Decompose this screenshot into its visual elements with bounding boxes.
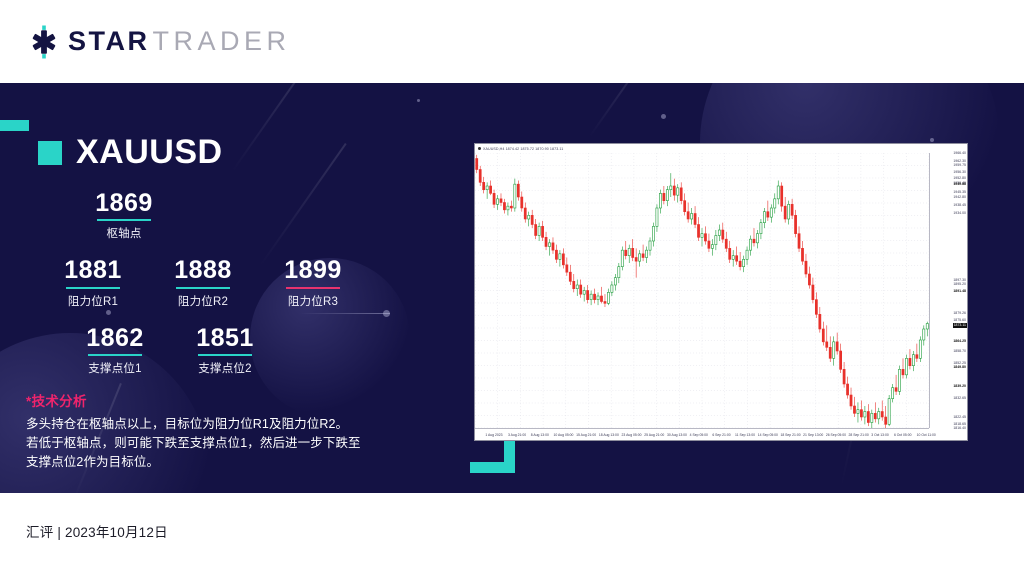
level-value: 1851 bbox=[170, 325, 280, 351]
level-resistance-1: 1881 阻力位R1 bbox=[38, 257, 148, 308]
time-axis-label: 3 Aug 21:00 bbox=[508, 433, 526, 437]
time-axis-label: 10 Oct 11:00 bbox=[917, 433, 936, 437]
last-price-tag: 1873.11 bbox=[953, 323, 967, 328]
time-axis-label: 14 Sep 05:00 bbox=[758, 433, 778, 437]
pivot-row: 1869 枢轴点 bbox=[74, 190, 378, 241]
symbol-label: XAUUSD bbox=[76, 133, 223, 172]
time-axis-label: 4 Sep 05:00 bbox=[690, 433, 708, 437]
brand-logo[interactable]: STAR TRADER bbox=[26, 24, 291, 60]
level-pivot: 1869 枢轴点 bbox=[74, 190, 174, 241]
square-marker-icon bbox=[38, 141, 62, 165]
price-axis-label: 1966.40 bbox=[953, 152, 966, 156]
time-axis-label: 11 Sep 13:00 bbox=[735, 433, 755, 437]
chart-menu-icon[interactable] bbox=[478, 147, 481, 150]
chart-plot-area bbox=[475, 153, 929, 428]
price-axis-label: 1891.48 bbox=[953, 290, 966, 294]
price-axis-label: 1956.30 bbox=[953, 171, 966, 175]
time-axis-label: 30 Aug 13:00 bbox=[667, 433, 687, 437]
page-title: XAUUSD bbox=[38, 133, 223, 172]
chart-price-axis: 1966.401962.301959.751956.301952.801950.… bbox=[929, 153, 967, 428]
time-axis-label: 10 Aug 05:00 bbox=[553, 433, 573, 437]
analysis-heading: *技术分析 bbox=[26, 390, 406, 410]
price-axis-label: 1959.75 bbox=[953, 164, 966, 168]
level-label: 支撑点位2 bbox=[170, 360, 280, 376]
time-axis-label: 3 Oct 13:00 bbox=[871, 433, 889, 437]
level-underline bbox=[97, 219, 151, 221]
six-point-star-icon bbox=[26, 24, 62, 60]
price-axis-label: 1895.20 bbox=[953, 283, 966, 287]
price-chart[interactable]: XAUUSD,H4 1874.42 1875.72 1870.90 1873.1… bbox=[474, 143, 968, 441]
level-value: 1881 bbox=[38, 257, 148, 283]
level-support-2: 1851 支撑点位2 bbox=[170, 325, 280, 376]
chart-time-axis: 1 Aug 20233 Aug 21:008 Aug 13:0010 Aug 0… bbox=[475, 428, 929, 440]
page-footer: 汇评 | 2023年10月12日 bbox=[0, 493, 1024, 576]
time-axis-label: 6 Sep 21:00 bbox=[712, 433, 730, 437]
analysis-heading-text: 技术分析 bbox=[32, 394, 87, 409]
chart-header-label: XAUUSD,H4 1874.42 1875.72 1870.90 1873.1… bbox=[483, 147, 563, 151]
level-label: 阻力位R3 bbox=[258, 293, 368, 309]
time-axis-label: 8 Aug 13:00 bbox=[531, 433, 549, 437]
price-axis-label: 1832.65 bbox=[953, 397, 966, 401]
level-label: 枢轴点 bbox=[74, 225, 174, 241]
brand-name-bold: STAR bbox=[68, 26, 150, 57]
level-underline bbox=[88, 354, 142, 356]
time-axis-label: 25 Aug 21:00 bbox=[644, 433, 664, 437]
technical-analysis: *技术分析 多头持仓在枢轴点以上，目标位为阻力位R1及阻力位R2。 若低于枢轴点… bbox=[26, 390, 406, 472]
price-axis-label: 1858.70 bbox=[953, 350, 966, 354]
level-underline bbox=[176, 287, 230, 289]
time-axis-label: 28 Sep 21:00 bbox=[849, 433, 869, 437]
page-header: STAR TRADER bbox=[0, 0, 1024, 83]
price-axis-label: 1942.80 bbox=[953, 196, 966, 200]
level-resistance-2: 1888 阻力位R2 bbox=[148, 257, 258, 308]
level-value: 1899 bbox=[258, 257, 368, 283]
price-axis-label: 1934.00 bbox=[953, 212, 966, 216]
time-axis-label: 23 Aug 05:00 bbox=[622, 433, 642, 437]
level-value: 1862 bbox=[60, 325, 170, 351]
time-axis-label: 6 Oct 05:00 bbox=[894, 433, 912, 437]
level-underline bbox=[198, 354, 252, 356]
level-value: 1869 bbox=[74, 190, 174, 216]
footer-caption: 汇评 | 2023年10月12日 bbox=[26, 521, 168, 541]
analysis-line-2: 若低于枢轴点，则可能下跌至支撑点位1，然后进一步下跌至 bbox=[26, 434, 406, 453]
level-label: 阻力位R2 bbox=[148, 293, 258, 309]
level-underline bbox=[286, 287, 340, 289]
price-axis-label: 1849.80 bbox=[953, 366, 966, 370]
price-axis-label: 1875.60 bbox=[953, 319, 966, 323]
corner-bracket-top-left bbox=[0, 120, 29, 165]
level-underline bbox=[66, 287, 120, 289]
level-support-1: 1862 支撑点位1 bbox=[60, 325, 170, 376]
time-axis-label: 15 Aug 21:00 bbox=[576, 433, 596, 437]
pivot-levels: 1869 枢轴点 1881 阻力位R1 1888 阻力位R2 1899 阻力位R… bbox=[38, 190, 378, 376]
analysis-body: 多头持仓在枢轴点以上，目标位为阻力位R1及阻力位R2。 若低于枢轴点，则可能下跌… bbox=[26, 415, 406, 472]
price-axis-label: 1822.45 bbox=[953, 416, 966, 420]
level-resistance-3: 1899 阻力位R3 bbox=[258, 257, 368, 308]
chart-header: XAUUSD,H4 1874.42 1875.72 1870.90 1873.1… bbox=[475, 144, 967, 153]
candlestick-series bbox=[475, 153, 929, 428]
analysis-line-1: 多头持仓在枢轴点以上，目标位为阻力位R1及阻力位R2。 bbox=[26, 415, 406, 434]
analysis-line-3: 支撑点位2作为目标位。 bbox=[26, 453, 406, 472]
time-axis-label: 26 Sep 05:00 bbox=[826, 433, 846, 437]
price-axis-label: 1879.26 bbox=[953, 312, 966, 316]
price-axis-label: 1938.45 bbox=[953, 204, 966, 208]
time-axis-label: 18 Aug 13:00 bbox=[599, 433, 619, 437]
time-axis-label: 1 Aug 2023 bbox=[485, 433, 502, 437]
brand-name-light: TRADER bbox=[153, 26, 291, 57]
resistance-row: 1881 阻力位R1 1888 阻力位R2 1899 阻力位R3 bbox=[38, 257, 378, 308]
price-axis-label: 1816.40 bbox=[953, 427, 966, 431]
support-row: 1862 支撑点位1 1851 支撑点位2 bbox=[60, 325, 378, 376]
price-axis-label: 1945.35 bbox=[953, 191, 966, 195]
level-value: 1888 bbox=[148, 257, 258, 283]
price-axis-label: 1864.25 bbox=[953, 340, 966, 344]
price-axis-label: 1949.88 bbox=[953, 183, 966, 187]
time-axis-label: 21 Sep 13:00 bbox=[803, 433, 823, 437]
price-axis-label: 1839.20 bbox=[953, 385, 966, 389]
level-label: 支撑点位1 bbox=[60, 360, 170, 376]
level-label: 阻力位R1 bbox=[38, 293, 148, 309]
time-axis-label: 18 Sep 21:00 bbox=[780, 433, 800, 437]
